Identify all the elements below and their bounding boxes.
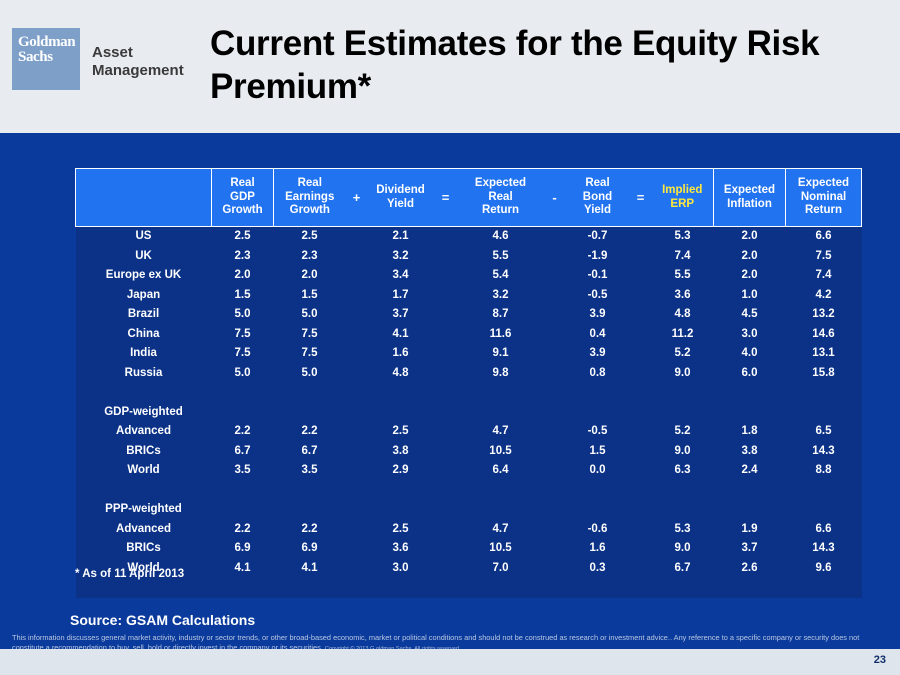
operator-cell (544, 539, 566, 559)
operator-cell (434, 344, 458, 364)
cell-gdp: 2.0 (212, 266, 274, 286)
operator-cell (346, 266, 368, 286)
cell-bond: -0.7 (566, 227, 630, 247)
table-row: India7.57.51.69.13.95.24.013.1 (76, 344, 862, 364)
cell-dividend: 3.4 (368, 266, 434, 286)
operator-cell (346, 559, 368, 579)
cell-dividend (368, 403, 434, 423)
operator-op_minus: - (544, 169, 566, 227)
cell-nominal: 4.2 (786, 286, 862, 306)
cell-implied-erp: 5.3 (652, 227, 714, 247)
operator-cell (346, 481, 368, 501)
cell-gdp: 6.9 (212, 539, 274, 559)
table-row: UK2.32.33.25.5-1.97.42.07.5 (76, 247, 862, 267)
cell-realret: 11.6 (458, 325, 544, 345)
column-header-region (76, 169, 212, 227)
cell-inflation: 3.8 (714, 442, 786, 462)
operator-cell (434, 266, 458, 286)
operator-cell (630, 422, 652, 442)
cell-bond (566, 500, 630, 520)
cell-realret (458, 500, 544, 520)
operator-cell (434, 247, 458, 267)
operator-cell (346, 520, 368, 540)
cell-realret: 9.1 (458, 344, 544, 364)
row-label: Russia (76, 364, 212, 384)
cell-realret: 10.5 (458, 539, 544, 559)
cell-nominal: 6.5 (786, 422, 862, 442)
row-label: China (76, 325, 212, 345)
cell-nominal: 13.2 (786, 305, 862, 325)
operator-cell (544, 461, 566, 481)
logo-wordmark: Goldman Sachs (18, 35, 75, 65)
cell-realret (458, 383, 544, 403)
operator-cell (630, 442, 652, 462)
operator-cell (544, 520, 566, 540)
cell-realret (458, 403, 544, 423)
operator-cell (630, 520, 652, 540)
cell-realret: 10.5 (458, 442, 544, 462)
column-header-implied-erp: Implied ERP (652, 169, 714, 227)
cell-implied-erp: 6.3 (652, 461, 714, 481)
bottom-strip (0, 649, 900, 675)
cell-dividend: 1.6 (368, 344, 434, 364)
cell-earnings (274, 383, 346, 403)
cell-gdp: 2.5 (212, 227, 274, 247)
operator-cell (346, 247, 368, 267)
operator-cell (434, 286, 458, 306)
table-body: US2.52.52.14.6-0.75.32.06.6UK2.32.33.25.… (76, 227, 862, 598)
column-header-realret: Expected Real Return (458, 169, 544, 227)
cell-bond: -1.9 (566, 247, 630, 267)
cell-realret: 8.7 (458, 305, 544, 325)
cell-nominal: 7.5 (786, 247, 862, 267)
table-row: Russia5.05.04.89.80.89.06.015.8 (76, 364, 862, 384)
cell-bond: -0.5 (566, 286, 630, 306)
operator-cell (630, 383, 652, 403)
operator-cell (346, 383, 368, 403)
cell-gdp: 7.5 (212, 325, 274, 345)
cell-dividend (368, 481, 434, 501)
cell-nominal: 6.6 (786, 520, 862, 540)
cell-earnings: 2.2 (274, 520, 346, 540)
cell-inflation (714, 500, 786, 520)
cell-nominal: 9.6 (786, 559, 862, 579)
cell-dividend (368, 500, 434, 520)
as-of-note: * As of 11 April 2013 (75, 568, 184, 580)
cell-implied-erp (652, 481, 714, 501)
operator-cell (630, 305, 652, 325)
operator-cell (434, 325, 458, 345)
cell-implied-erp (652, 500, 714, 520)
cell-earnings: 2.2 (274, 422, 346, 442)
cell-implied-erp: 3.6 (652, 286, 714, 306)
operator-cell (544, 247, 566, 267)
cell-gdp: 2.2 (212, 422, 274, 442)
cell-implied-erp (652, 403, 714, 423)
row-label: Brazil (76, 305, 212, 325)
cell-dividend: 3.8 (368, 442, 434, 462)
cell-inflation (714, 481, 786, 501)
cell-realret: 9.8 (458, 364, 544, 384)
cell-nominal: 15.8 (786, 364, 862, 384)
operator-cell (544, 325, 566, 345)
cell-implied-erp: 5.2 (652, 344, 714, 364)
cell-earnings: 6.9 (274, 539, 346, 559)
cell-gdp: 2.3 (212, 247, 274, 267)
cell-inflation: 2.6 (714, 559, 786, 579)
cell-nominal: 7.4 (786, 266, 862, 286)
source-note: Source: GSAM Calculations (70, 612, 255, 628)
operator-cell (544, 403, 566, 423)
row-label: US (76, 227, 212, 247)
cell-inflation: 1.9 (714, 520, 786, 540)
cell-dividend: 2.9 (368, 461, 434, 481)
operator-cell (630, 266, 652, 286)
operator-cell (630, 578, 652, 598)
operator-cell (544, 578, 566, 598)
table-row: World4.14.13.07.00.36.72.69.6 (76, 559, 862, 579)
cell-nominal (786, 578, 862, 598)
cell-realret: 4.7 (458, 422, 544, 442)
cell-implied-erp: 5.3 (652, 520, 714, 540)
operator-cell (544, 481, 566, 501)
row-label: World (76, 461, 212, 481)
cell-bond: 3.9 (566, 344, 630, 364)
cell-inflation (714, 383, 786, 403)
operator-cell (346, 286, 368, 306)
table-row: Europe ex UK2.02.03.45.4-0.15.52.07.4 (76, 266, 862, 286)
cell-implied-erp: 9.0 (652, 442, 714, 462)
row-label (76, 481, 212, 501)
cell-inflation (714, 578, 786, 598)
operator-cell (346, 442, 368, 462)
cell-dividend: 3.2 (368, 247, 434, 267)
operator-cell (434, 539, 458, 559)
operator-cell (630, 344, 652, 364)
cell-nominal (786, 481, 862, 501)
table-row: BRICs6.76.73.810.51.59.03.814.3 (76, 442, 862, 462)
operator-cell (630, 286, 652, 306)
cell-nominal: 8.8 (786, 461, 862, 481)
cell-bond: 0.8 (566, 364, 630, 384)
cell-realret: 7.0 (458, 559, 544, 579)
row-label (76, 578, 212, 598)
operator-cell (346, 364, 368, 384)
cell-inflation: 4.0 (714, 344, 786, 364)
cell-nominal: 6.6 (786, 227, 862, 247)
table-row: US2.52.52.14.6-0.75.32.06.6 (76, 227, 862, 247)
operator-cell (434, 461, 458, 481)
cell-dividend: 2.1 (368, 227, 434, 247)
table-row: World3.53.52.96.40.06.32.48.8 (76, 461, 862, 481)
cell-realret: 6.4 (458, 461, 544, 481)
cell-inflation: 3.7 (714, 539, 786, 559)
cell-nominal: 14.3 (786, 442, 862, 462)
cell-bond (566, 403, 630, 423)
row-label: UK (76, 247, 212, 267)
table-row: Japan1.51.51.73.2-0.53.61.04.2 (76, 286, 862, 306)
cell-realret (458, 578, 544, 598)
operator-cell (434, 383, 458, 403)
cell-inflation: 3.0 (714, 325, 786, 345)
cell-nominal (786, 403, 862, 423)
cell-realret: 3.2 (458, 286, 544, 306)
operator-cell (346, 461, 368, 481)
operator-cell (544, 286, 566, 306)
cell-earnings: 6.7 (274, 442, 346, 462)
goldman-sachs-logo: Goldman Sachs (12, 28, 80, 90)
cell-bond (566, 481, 630, 501)
cell-gdp (212, 403, 274, 423)
cell-gdp: 4.1 (212, 559, 274, 579)
operator-cell (544, 227, 566, 247)
table-row: BRICs6.96.93.610.51.69.03.714.3 (76, 539, 862, 559)
cell-gdp: 3.5 (212, 461, 274, 481)
cell-realret: 4.7 (458, 520, 544, 540)
operator-cell (434, 227, 458, 247)
table-row: China7.57.54.111.60.411.23.014.6 (76, 325, 862, 345)
operator-cell (630, 403, 652, 423)
cell-earnings (274, 403, 346, 423)
row-label: PPP-weighted (76, 500, 212, 520)
cell-gdp: 5.0 (212, 305, 274, 325)
cell-realret: 5.4 (458, 266, 544, 286)
operator-cell (434, 364, 458, 384)
cell-inflation: 2.0 (714, 227, 786, 247)
slide-header-band: Goldman Sachs Asset Management Current E… (0, 0, 900, 133)
operator-cell (434, 305, 458, 325)
cell-dividend: 3.6 (368, 539, 434, 559)
cell-gdp: 1.5 (212, 286, 274, 306)
cell-dividend: 3.0 (368, 559, 434, 579)
operator-cell (630, 325, 652, 345)
table-header-row: Real GDP GrowthReal Earnings Growth+Divi… (76, 169, 862, 227)
cell-inflation: 1.8 (714, 422, 786, 442)
cell-earnings: 2.0 (274, 266, 346, 286)
operator-cell (630, 539, 652, 559)
cell-bond: -0.5 (566, 422, 630, 442)
cell-implied-erp: 9.0 (652, 539, 714, 559)
cell-nominal (786, 383, 862, 403)
cell-implied-erp: 11.2 (652, 325, 714, 345)
cell-implied-erp: 4.8 (652, 305, 714, 325)
column-header-dividend: Dividend Yield (368, 169, 434, 227)
cell-dividend: 3.7 (368, 305, 434, 325)
cell-gdp (212, 481, 274, 501)
row-label: GDP-weighted (76, 403, 212, 423)
table-row: Advanced2.22.22.54.7-0.65.31.96.6 (76, 520, 862, 540)
operator-cell (346, 539, 368, 559)
cell-dividend: 4.8 (368, 364, 434, 384)
cell-dividend: 4.1 (368, 325, 434, 345)
cell-gdp (212, 383, 274, 403)
cell-inflation: 2.0 (714, 247, 786, 267)
cell-nominal: 13.1 (786, 344, 862, 364)
cell-realret: 4.6 (458, 227, 544, 247)
row-label: Europe ex UK (76, 266, 212, 286)
cell-nominal: 14.3 (786, 539, 862, 559)
table-bottom-spacer (76, 578, 862, 598)
cell-bond: 0.4 (566, 325, 630, 345)
operator-cell (434, 559, 458, 579)
operator-cell (544, 266, 566, 286)
cell-inflation (714, 403, 786, 423)
cell-bond: -0.6 (566, 520, 630, 540)
operator-cell (346, 500, 368, 520)
operator-op_eq2: = (630, 169, 652, 227)
operator-cell (630, 364, 652, 384)
cell-implied-erp: 9.0 (652, 364, 714, 384)
operator-cell (544, 422, 566, 442)
cell-bond: 0.0 (566, 461, 630, 481)
operator-cell (434, 422, 458, 442)
operator-cell (346, 403, 368, 423)
cell-earnings (274, 481, 346, 501)
cell-earnings: 5.0 (274, 364, 346, 384)
cell-dividend: 1.7 (368, 286, 434, 306)
operator-cell (346, 305, 368, 325)
cell-earnings (274, 578, 346, 598)
cell-gdp: 5.0 (212, 364, 274, 384)
cell-bond: 0.3 (566, 559, 630, 579)
cell-inflation: 6.0 (714, 364, 786, 384)
cell-dividend: 2.5 (368, 422, 434, 442)
operator-cell (346, 344, 368, 364)
operator-cell (346, 325, 368, 345)
division-label: Asset Management (92, 44, 184, 80)
column-header-gdp: Real GDP Growth (212, 169, 274, 227)
row-label: India (76, 344, 212, 364)
cell-dividend: 2.5 (368, 520, 434, 540)
cell-inflation: 1.0 (714, 286, 786, 306)
table-row: Advanced2.22.22.54.7-0.55.21.86.5 (76, 422, 862, 442)
cell-gdp (212, 578, 274, 598)
cell-bond: 1.5 (566, 442, 630, 462)
cell-bond (566, 383, 630, 403)
operator-cell (544, 559, 566, 579)
cell-bond (566, 578, 630, 598)
cell-earnings: 5.0 (274, 305, 346, 325)
row-label (76, 383, 212, 403)
table-spacer-row (76, 481, 862, 501)
operator-cell (630, 247, 652, 267)
operator-cell (434, 578, 458, 598)
operator-cell (544, 383, 566, 403)
cell-earnings: 2.5 (274, 227, 346, 247)
column-header-inflation: Expected Inflation (714, 169, 786, 227)
operator-cell (434, 500, 458, 520)
operator-cell (434, 442, 458, 462)
column-header-bond: Real Bond Yield (566, 169, 630, 227)
operator-cell (544, 364, 566, 384)
row-label: BRICs (76, 442, 212, 462)
cell-earnings: 4.1 (274, 559, 346, 579)
operator-cell (346, 578, 368, 598)
cell-bond: 1.6 (566, 539, 630, 559)
cell-implied-erp (652, 383, 714, 403)
cell-earnings: 3.5 (274, 461, 346, 481)
cell-bond: 3.9 (566, 305, 630, 325)
operator-op_plus: + (346, 169, 368, 227)
cell-dividend (368, 383, 434, 403)
column-header-earnings: Real Earnings Growth (274, 169, 346, 227)
operator-cell (544, 500, 566, 520)
cell-implied-erp: 5.5 (652, 266, 714, 286)
cell-nominal: 14.6 (786, 325, 862, 345)
table-section-row: PPP-weighted (76, 500, 862, 520)
cell-earnings: 7.5 (274, 325, 346, 345)
cell-realret (458, 481, 544, 501)
cell-gdp: 7.5 (212, 344, 274, 364)
cell-earnings: 2.3 (274, 247, 346, 267)
operator-cell (544, 305, 566, 325)
cell-inflation: 2.4 (714, 461, 786, 481)
operator-op_eq1: = (434, 169, 458, 227)
cell-implied-erp: 6.7 (652, 559, 714, 579)
operator-cell (630, 461, 652, 481)
cell-inflation: 4.5 (714, 305, 786, 325)
cell-gdp (212, 500, 274, 520)
cell-implied-erp (652, 578, 714, 598)
operator-cell (434, 403, 458, 423)
cell-dividend (368, 578, 434, 598)
operator-cell (346, 227, 368, 247)
cell-inflation: 2.0 (714, 266, 786, 286)
cell-gdp: 2.2 (212, 520, 274, 540)
cell-earnings: 1.5 (274, 286, 346, 306)
cell-gdp: 6.7 (212, 442, 274, 462)
operator-cell (434, 520, 458, 540)
table-section-row: GDP-weighted (76, 403, 862, 423)
row-label: Advanced (76, 520, 212, 540)
operator-cell (630, 559, 652, 579)
cell-implied-erp: 7.4 (652, 247, 714, 267)
operator-cell (630, 227, 652, 247)
operator-cell (630, 481, 652, 501)
operator-cell (544, 344, 566, 364)
operator-cell (346, 422, 368, 442)
cell-earnings (274, 500, 346, 520)
page-title: Current Estimates for the Equity Risk Pr… (210, 22, 880, 108)
operator-cell (544, 442, 566, 462)
table-spacer-row (76, 383, 862, 403)
operator-cell (630, 500, 652, 520)
cell-bond: -0.1 (566, 266, 630, 286)
equity-risk-premium-table: Real GDP GrowthReal Earnings Growth+Divi… (75, 168, 862, 598)
cell-implied-erp: 5.2 (652, 422, 714, 442)
operator-cell (434, 481, 458, 501)
cell-realret: 5.5 (458, 247, 544, 267)
cell-nominal (786, 500, 862, 520)
column-header-nominal: Expected Nominal Return (786, 169, 862, 227)
cell-earnings: 7.5 (274, 344, 346, 364)
row-label: Advanced (76, 422, 212, 442)
page-number: 23 (874, 654, 886, 666)
table-row: Brazil5.05.03.78.73.94.84.513.2 (76, 305, 862, 325)
row-label: BRICs (76, 539, 212, 559)
row-label: Japan (76, 286, 212, 306)
